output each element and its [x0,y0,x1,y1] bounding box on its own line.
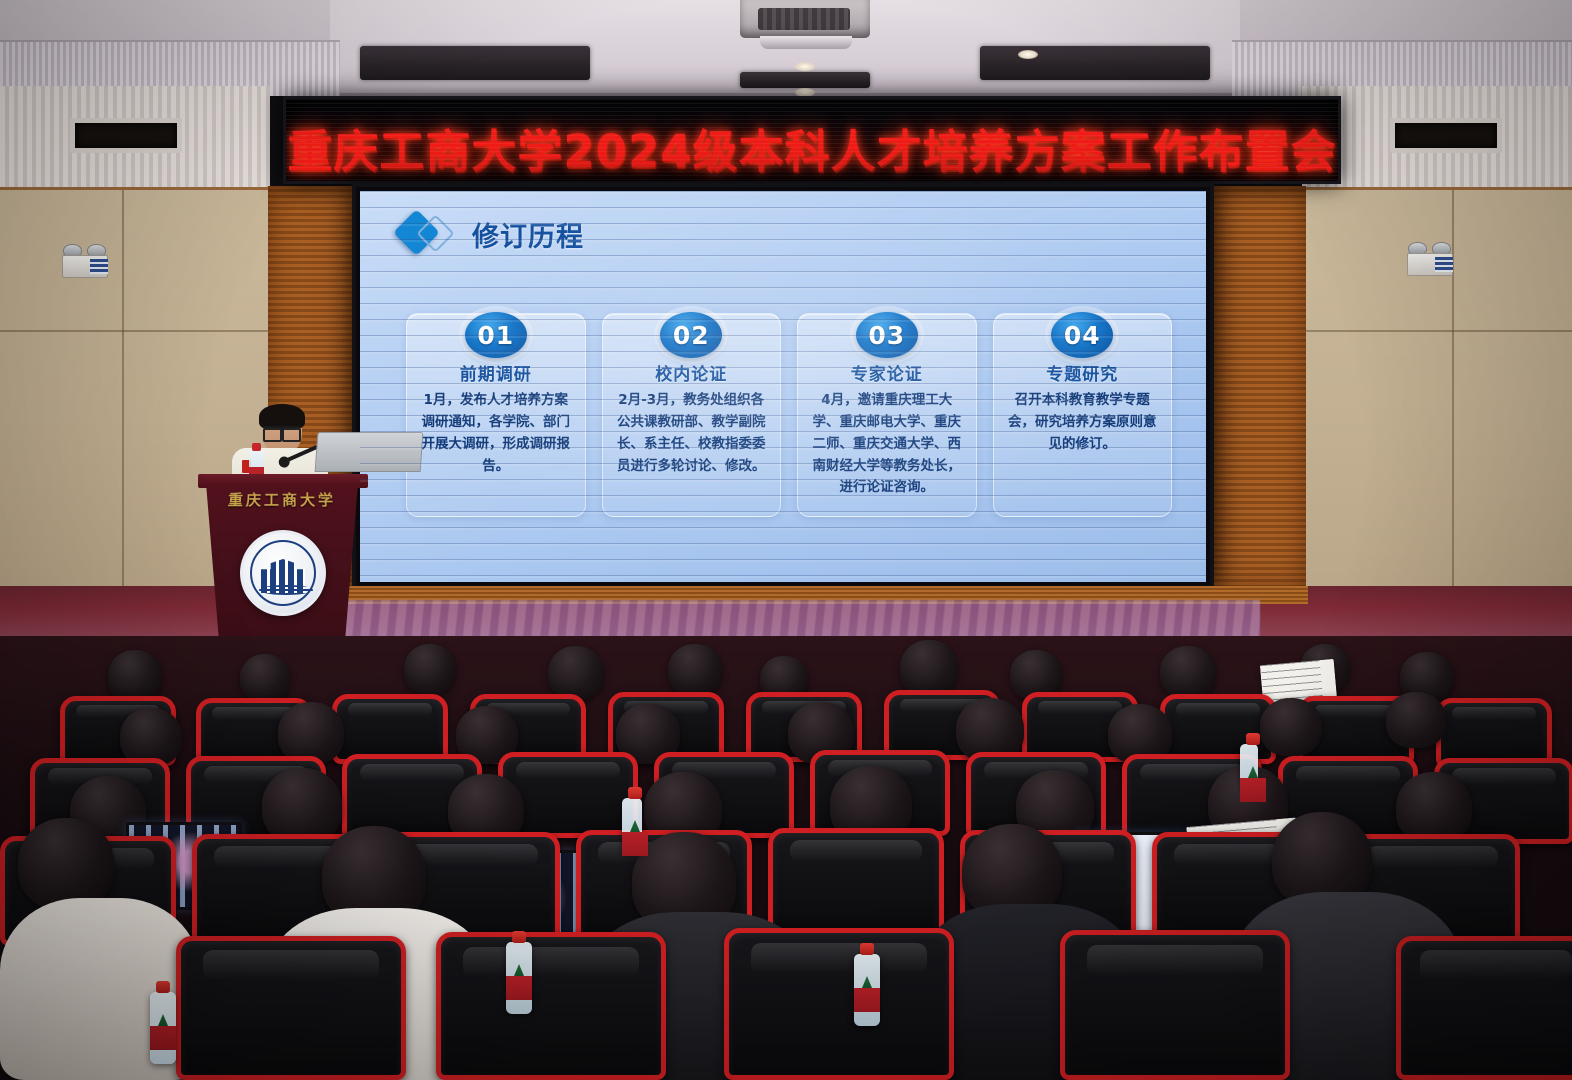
attendee-head [548,646,604,700]
ceiling-projector [740,0,870,38]
timeline-cards: 01 前期调研 1月，发布人才培养方案调研通知，各学院、部门开展大调研，形成调研… [406,313,1172,517]
card-body-01: 1月，发布人才培养方案调研通知，各学院、部门开展大调研，形成调研报告。 [418,390,574,477]
audience-area [0,636,1572,1080]
emergency-light-label [1435,257,1453,272]
bottle-label [1240,778,1266,802]
seat [176,936,406,1080]
water-bottle [854,954,880,1026]
bottle-cap [1246,733,1260,745]
step-number: 01 [477,321,514,350]
attendee-head [900,640,958,696]
bottle-label [150,1026,176,1050]
slide-title: 修订历程 [472,215,584,254]
seat [724,928,954,1080]
bottle-label [506,976,532,1000]
attendee-head [278,702,344,764]
attendee-head [404,644,456,694]
water-bottle [1240,744,1258,792]
ceiling [0,0,1572,96]
step-number: 03 [868,321,905,350]
attendee-head [1160,646,1216,698]
step-number: 04 [1064,321,1101,350]
step-badge-04: 04 [1051,312,1113,358]
conference-hall-photo: 重庆工商大学2024级本科人才培养方案工作布置会 修订历程 01 前期调研 1月… [0,0,1572,1080]
downlight-center [795,62,815,71]
podium-laptop [315,432,424,472]
led-banner: 重庆工商大学2024级本科人才培养方案工作布置会 [283,96,1341,184]
wall-vent-window-left [70,118,182,153]
emergency-light-label [90,259,108,274]
wood-cladding-right [1214,186,1306,590]
card-title-03: 专家论证 [809,360,965,385]
timeline-card-02: 02 校内论证 2月-3月，教务处组织各公共课教研部、教学副院长、系主任、校教指… [602,313,782,517]
step-badge-01: 01 [465,312,527,358]
timeline-card-04: 04 专题研究 召开本科教育教学专题会，研究培养方案原则意见的修订。 [993,313,1173,517]
wall-panel-seam-h [0,330,272,332]
presentation-screen: 修订历程 01 前期调研 1月，发布人才培养方案调研通知，各学院、部门开展大调研… [352,183,1214,590]
attendee-head [1386,692,1446,748]
card-body-03: 4月，邀请重庆理工大学、重庆邮电大学、重庆二师、重庆交通大学、西南财经大学等教务… [809,390,965,499]
attendee-head [668,644,722,696]
banner-title: 重庆工商大学2024级本科人才培养方案工作布置会 [286,115,1338,180]
diamond-icon [400,213,462,255]
glasses-icon [263,426,301,436]
ceiling-light-panel-right [980,46,1210,80]
card-title-04: 专题研究 [1005,360,1161,385]
card-title-02: 校内论证 [614,360,770,385]
seat [1396,936,1572,1080]
step-number: 02 [673,321,710,350]
emblem-wave-mark [259,585,313,595]
ceiling-slot-vent [740,72,870,88]
bottle-cap [512,931,526,943]
podium-university-name: 重庆工商大学 [205,489,359,510]
timeline-card-03: 03 专家论证 4月，邀请重庆理工大学、重庆邮电大学、重庆二师、重庆交通大学、西… [797,313,977,517]
seat [1060,930,1290,1080]
attendee-head [240,654,290,702]
ceiling-light-panel-left [360,46,590,80]
water-bottle [150,992,176,1064]
attendee-head [108,650,162,702]
slide-header: 修订历程 [400,213,584,255]
card-title-01: 前期调研 [418,360,574,385]
attendee-head [1260,698,1322,756]
water-bottle [622,798,642,854]
timeline-card-01: 01 前期调研 1月，发布人才培养方案调研通知，各学院、部门开展大调研，形成调研… [406,313,586,517]
attendee-head [18,818,114,910]
slide: 修订历程 01 前期调研 1月，发布人才培养方案调研通知，各学院、部门开展大调研… [360,191,1206,582]
university-emblem [240,530,326,616]
bottle-label [854,988,880,1012]
projector-lens-housing [760,36,852,49]
bottle-cap [156,981,170,993]
step-badge-02: 02 [660,312,722,358]
downlight-right [1018,50,1038,59]
emergency-light-left [58,242,112,278]
water-bottle [506,942,532,1014]
wall-vent-window-right [1390,118,1502,153]
bottle-label [622,832,648,856]
card-body-04: 召开本科教育教学专题会，研究培养方案原则意见的修订。 [1005,390,1161,456]
step-badge-03: 03 [856,312,918,358]
seat [436,932,666,1080]
card-body-02: 2月-3月，教务处组织各公共课教研部、教学副院长、系主任、校教指委委员进行多轮讨… [614,390,770,477]
bottle-cap [628,787,642,799]
bottle-cap [860,943,874,955]
wall-panel-seam-h [1300,330,1572,332]
emergency-light-right [1403,240,1457,276]
attendee-head [262,768,342,844]
seat [768,828,944,938]
